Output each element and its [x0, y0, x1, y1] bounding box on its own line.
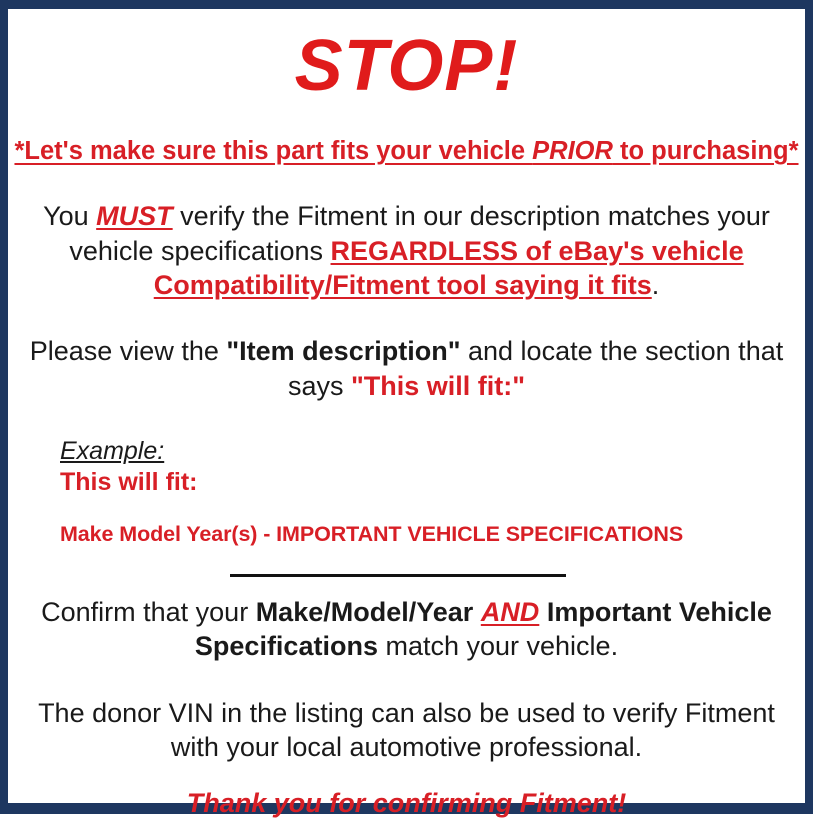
confirm-paragraph-end: match your vehicle.	[378, 631, 618, 661]
donor-vin-paragraph: The donor VIN in the listing can also be…	[14, 696, 799, 765]
example-block: Example: This will fit: Make Model Year(…	[14, 437, 799, 548]
this-will-fit-quote: "This will fit:"	[351, 371, 525, 401]
divider-wrap	[14, 570, 799, 584]
must-emphasis: MUST	[96, 201, 173, 231]
headline-text-before: *Let's make sure this part fits your veh…	[14, 137, 532, 165]
make-model-year-emphasis: Make/Model/Year	[256, 597, 474, 627]
notice-content: STOP! *Let's make sure this part fits yo…	[8, 30, 805, 824]
headline-verify-fitment: *Let's make sure this part fits your veh…	[14, 137, 799, 166]
section-divider	[230, 574, 566, 577]
confirm-paragraph-lead: Confirm that your	[41, 597, 256, 627]
example-spec-line: Make Model Year(s) - IMPORTANT VEHICLE S…	[60, 522, 799, 548]
thank-you-message: Thank you for confirming Fitment!	[14, 787, 799, 819]
must-verify-paragraph: You MUST verify the Fitment in our descr…	[14, 199, 799, 303]
fitment-notice-card: STOP! *Let's make sure this part fits yo…	[0, 0, 813, 814]
stop-title: STOP!	[14, 30, 799, 102]
headline-text-after: to purchasing*	[613, 137, 799, 165]
item-description-label: "Item description"	[226, 336, 460, 366]
example-this-will-fit-heading: This will fit:	[60, 467, 799, 497]
must-paragraph-lead: You	[43, 201, 96, 231]
item-description-paragraph: Please view the "Item description" and l…	[14, 334, 799, 403]
desc-paragraph-lead: Please view the	[30, 336, 227, 366]
and-emphasis: AND	[481, 597, 540, 627]
must-paragraph-end: .	[652, 270, 660, 300]
confirm-paragraph: Confirm that your Make/Model/Year AND Im…	[14, 595, 799, 664]
headline-prior-emphasis: PRIOR	[532, 137, 613, 165]
example-label: Example:	[60, 437, 799, 466]
